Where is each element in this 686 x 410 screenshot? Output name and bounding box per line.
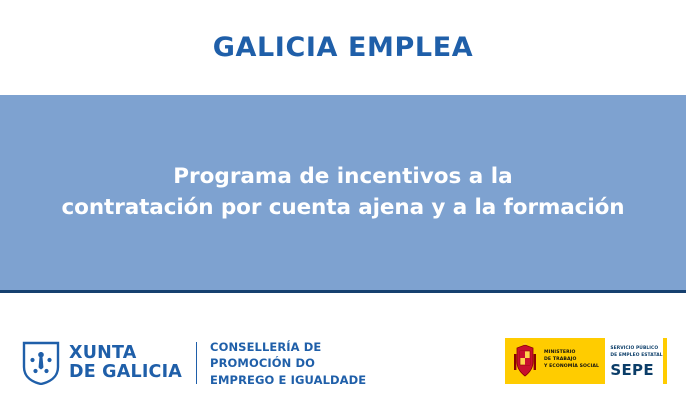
sepe-line-2: DE EMPLEO ESTATAL — [610, 353, 662, 360]
conselleria-name: CONSELLERÍA DE PROMOCIÓN DO EMPREGO E IG… — [210, 339, 366, 388]
banner-line-1: Programa de incentivos a la — [62, 162, 625, 193]
ministerio-logo: MINISTERIO DE TRABAJO Y ECONOMÍA SOCIAL — [505, 338, 604, 384]
conselleria-line-3: EMPREGO E IGUALDADE — [210, 372, 366, 388]
program-banner: Programa de incentivos a la contratación… — [0, 95, 686, 290]
conselleria-line-2: PROMOCIÓN DO — [210, 355, 366, 371]
ministerio-line-3: Y ECONOMÍA SOCIAL — [544, 363, 599, 370]
sepe-acronym: SEPE — [610, 361, 654, 379]
ministerio-line-1: MINISTERIO — [544, 349, 599, 356]
government-logo-block: MINISTERIO DE TRABAJO Y ECONOMÍA SOCIAL … — [505, 338, 667, 384]
title-area: GALICIA EMPLEA — [0, 0, 686, 95]
xunta-word-line-2: DE GALICIA — [69, 363, 182, 383]
xunta-shield-icon — [22, 341, 60, 385]
page-title: GALICIA EMPLEA — [213, 32, 474, 63]
sepe-logo: SERVICIO PÚBLICO DE EMPLEO ESTATAL SEPE — [604, 338, 667, 384]
sepe-accent-bar — [663, 338, 667, 384]
sepe-line-1: SERVICIO PÚBLICO — [610, 346, 662, 353]
xunta-logo-block: XUNTA DE GALICIA CONSELLERÍA DE PROMOCIÓ… — [22, 339, 366, 388]
conselleria-line-1: CONSELLERÍA DE — [210, 339, 366, 355]
banner-text: Programa de incentivos a la contratación… — [44, 162, 643, 223]
banner-line-2: contratación por cuenta ajena y a la for… — [62, 193, 625, 224]
sepe-description: SERVICIO PÚBLICO DE EMPLEO ESTATAL — [610, 346, 662, 359]
xunta-word-line-1: XUNTA — [69, 344, 182, 364]
spain-coat-of-arms-icon — [511, 343, 539, 379]
footer: XUNTA DE GALICIA CONSELLERÍA DE PROMOCIÓ… — [0, 293, 686, 410]
ministerio-line-2: DE TRABAJO — [544, 356, 599, 363]
poster-page: GALICIA EMPLEA Programa de incentivos a … — [0, 0, 686, 410]
ministerio-text: MINISTERIO DE TRABAJO Y ECONOMÍA SOCIAL — [544, 349, 599, 370]
xunta-wordmark: XUNTA DE GALICIA — [69, 344, 182, 383]
logo-separator — [196, 342, 197, 384]
